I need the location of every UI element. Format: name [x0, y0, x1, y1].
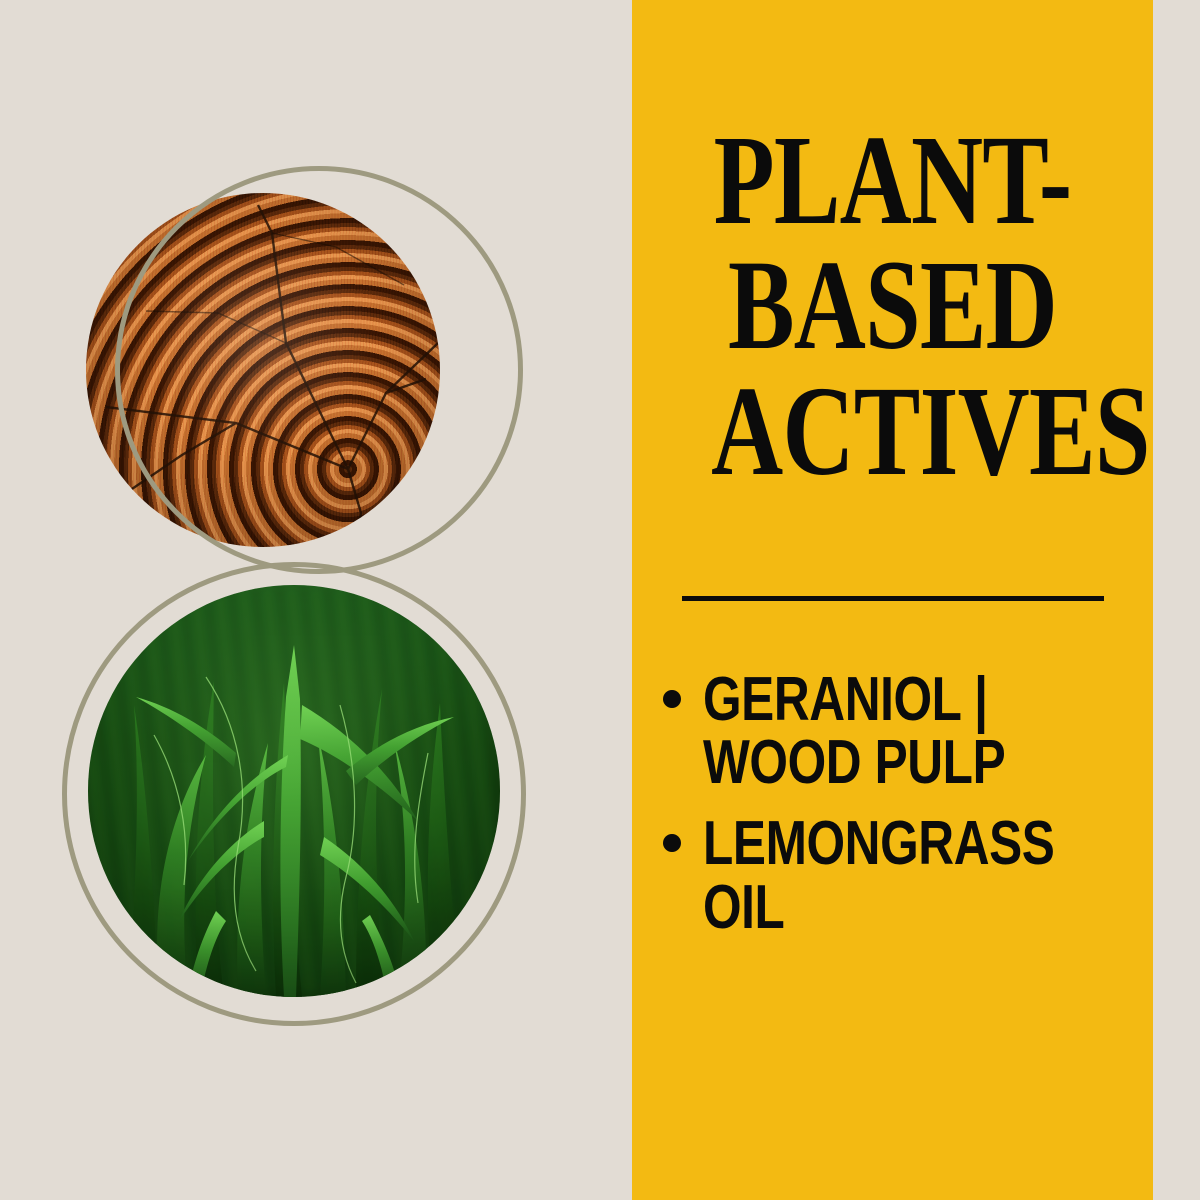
title-line-2: BASED	[711, 243, 1074, 368]
list-item: GERANIOL | WOOD PULP	[660, 668, 1130, 794]
title-divider	[682, 596, 1104, 601]
ingredient-list: GERANIOL | WOOD PULP LEMONGRASS OIL	[660, 668, 1130, 957]
image-collage	[0, 0, 632, 1200]
poster-canvas: PLANT- BASED ACTIVES GERANIOL | WOOD PUL…	[0, 0, 1200, 1200]
bullet-dot-icon	[663, 690, 681, 708]
list-item-label: GERANIOL | WOOD PULP	[703, 668, 1045, 794]
content-column: PLANT- BASED ACTIVES GERANIOL | WOOD PUL…	[660, 0, 1125, 1200]
lemongrass-circle-outline-ring	[62, 562, 526, 1026]
list-item-label: LEMONGRASS OIL	[703, 812, 1054, 938]
title-line-1: PLANT-	[711, 118, 1074, 243]
wood-circle-outline-ring	[115, 166, 523, 574]
bullet-dot-icon	[663, 834, 681, 852]
title-line-3: ACTIVES	[711, 369, 1074, 494]
page-title: PLANT- BASED ACTIVES	[660, 118, 1125, 494]
list-item: LEMONGRASS OIL	[660, 812, 1130, 938]
right-background-strip	[1153, 0, 1200, 1200]
